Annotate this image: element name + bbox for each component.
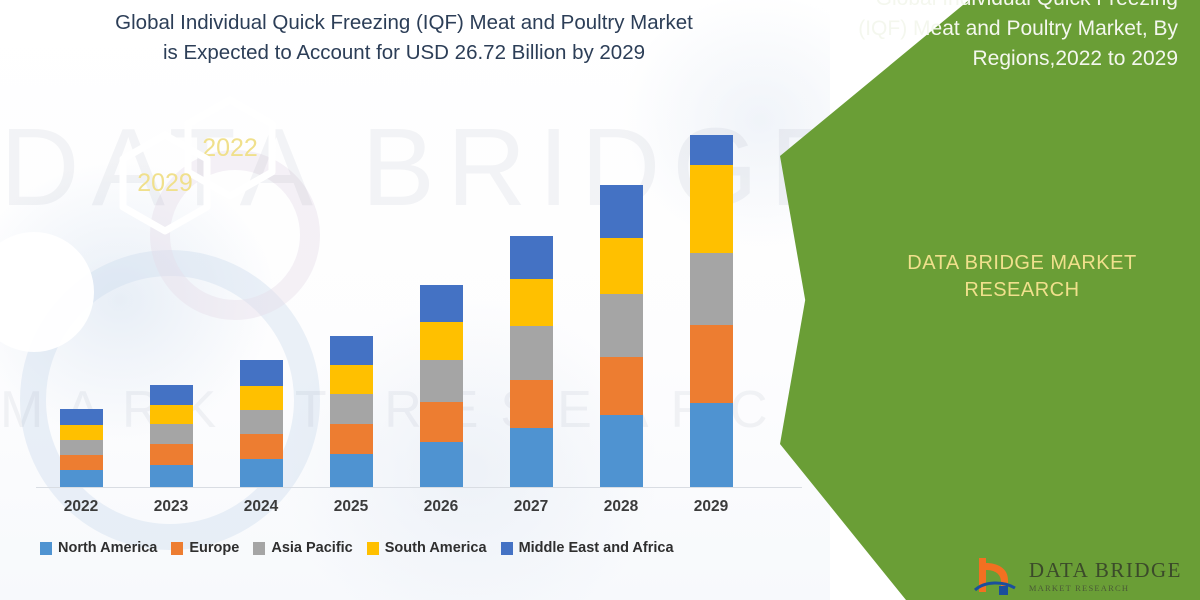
logo-wordmark: DATA BRIDGE <box>1029 558 1182 583</box>
logo-tagline: MARKET RESEARCH <box>1029 583 1182 593</box>
bar-segment[interactable] <box>600 357 643 415</box>
bar-segment[interactable] <box>420 360 463 402</box>
bar-slot-2027 <box>486 95 576 487</box>
hexagon-badges-group: 2022 2029 <box>0 0 420 600</box>
panel-brand-line-1: DATA BRIDGE MARKET <box>872 250 1172 277</box>
panel-title-line-1: (IQF) Meat and Poultry Market, By <box>808 14 1178 44</box>
bar-segment[interactable] <box>600 415 643 487</box>
x-axis-label-2028: 2028 <box>576 498 666 516</box>
bar-segment[interactable] <box>510 380 553 428</box>
x-axis-label-2029: 2029 <box>666 498 756 516</box>
bar-slot-2028 <box>576 95 666 487</box>
hexagon-badge-2029: 2029 <box>123 135 207 231</box>
bar-segment[interactable] <box>600 238 643 294</box>
bar-segment[interactable] <box>690 253 733 325</box>
bar-segment[interactable] <box>600 185 643 238</box>
stacked-bar-2027[interactable] <box>510 236 553 487</box>
bar-segment[interactable] <box>690 165 733 253</box>
stacked-bar-2029[interactable] <box>690 135 733 487</box>
bar-segment[interactable] <box>420 442 463 487</box>
bar-slot-2029 <box>666 95 756 487</box>
stacked-bar-2026[interactable] <box>420 285 463 487</box>
panel-title-line-2: Regions,2022 to 2029 <box>808 44 1178 74</box>
bar-segment[interactable] <box>510 236 553 279</box>
bar-segment[interactable] <box>600 294 643 357</box>
panel-brand-text: DATA BRIDGE MARKET RESEARCH <box>872 250 1172 304</box>
bar-segment[interactable] <box>510 279 553 326</box>
hexagon-badge-2022: 2022 <box>188 100 272 196</box>
bar-segment[interactable] <box>420 402 463 442</box>
bar-segment[interactable] <box>690 403 733 487</box>
panel-title-line-0: Global Individual Quick Freezing <box>808 0 1178 14</box>
panel-title: Global Individual Quick Freezing (IQF) M… <box>808 0 1178 73</box>
infographic-page: DATA BRIDGE MARKET RESEARCH Global Indiv… <box>0 0 1200 600</box>
data-bridge-logo: DATA BRIDGE MARKET RESEARCH <box>973 554 1182 596</box>
bar-segment[interactable] <box>420 285 463 322</box>
bar-segment[interactable] <box>420 322 463 360</box>
x-axis-label-2027: 2027 <box>486 498 576 516</box>
legend-label: Middle East and Africa <box>519 540 674 556</box>
bar-segment[interactable] <box>510 428 553 487</box>
bar-segment[interactable] <box>690 325 733 403</box>
legend-item[interactable]: Middle East and Africa <box>501 540 674 556</box>
bar-segment[interactable] <box>690 135 733 165</box>
bar-segment[interactable] <box>510 326 553 380</box>
hexagon-label-2029: 2029 <box>137 169 193 197</box>
panel-brand-line-2: RESEARCH <box>872 277 1172 304</box>
hexagon-label-2022: 2022 <box>202 134 258 162</box>
bridge-logo-icon <box>973 554 1019 596</box>
stacked-bar-2028[interactable] <box>600 185 643 487</box>
legend-swatch-icon <box>501 542 513 555</box>
